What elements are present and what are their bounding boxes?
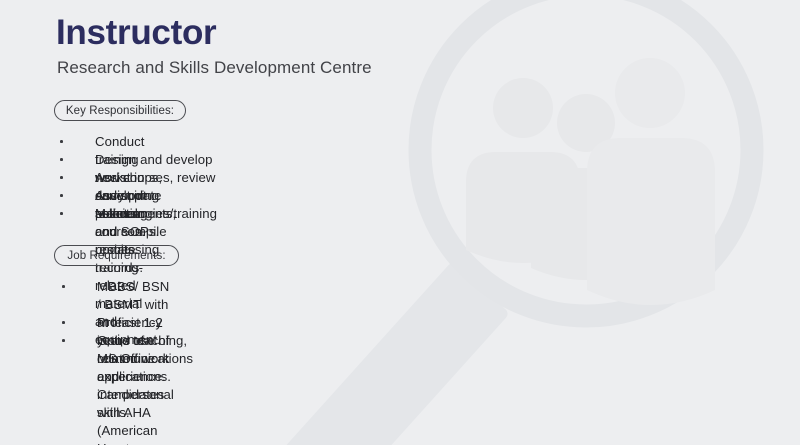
page-title: Instructor xyxy=(56,13,216,53)
bullet-dot-icon xyxy=(60,212,63,215)
section-pill-key-responsibilities: Key Responsibilities: xyxy=(54,100,186,121)
bullet-dot-icon xyxy=(60,140,63,143)
bullet-dot-icon xyxy=(62,285,65,288)
list-item-label: Good teaching, communications and interp… xyxy=(97,332,193,422)
job-posting-slide: Instructor Research and Skills Developme… xyxy=(0,0,800,445)
slide-content: Instructor Research and Skills Developme… xyxy=(0,0,800,445)
page-subtitle: Research and Skills Development Centre xyxy=(57,57,372,79)
bullet-dot-icon xyxy=(60,176,63,179)
list-item-label: Maintain and update records. xyxy=(95,205,145,277)
bullet-dot-icon xyxy=(62,321,65,324)
bullet-dot-icon xyxy=(62,339,65,342)
bullet-dot-icon xyxy=(60,194,63,197)
bullet-dot-icon xyxy=(60,158,63,161)
section-pill-job-requirements: Job Requirements: xyxy=(54,245,179,266)
